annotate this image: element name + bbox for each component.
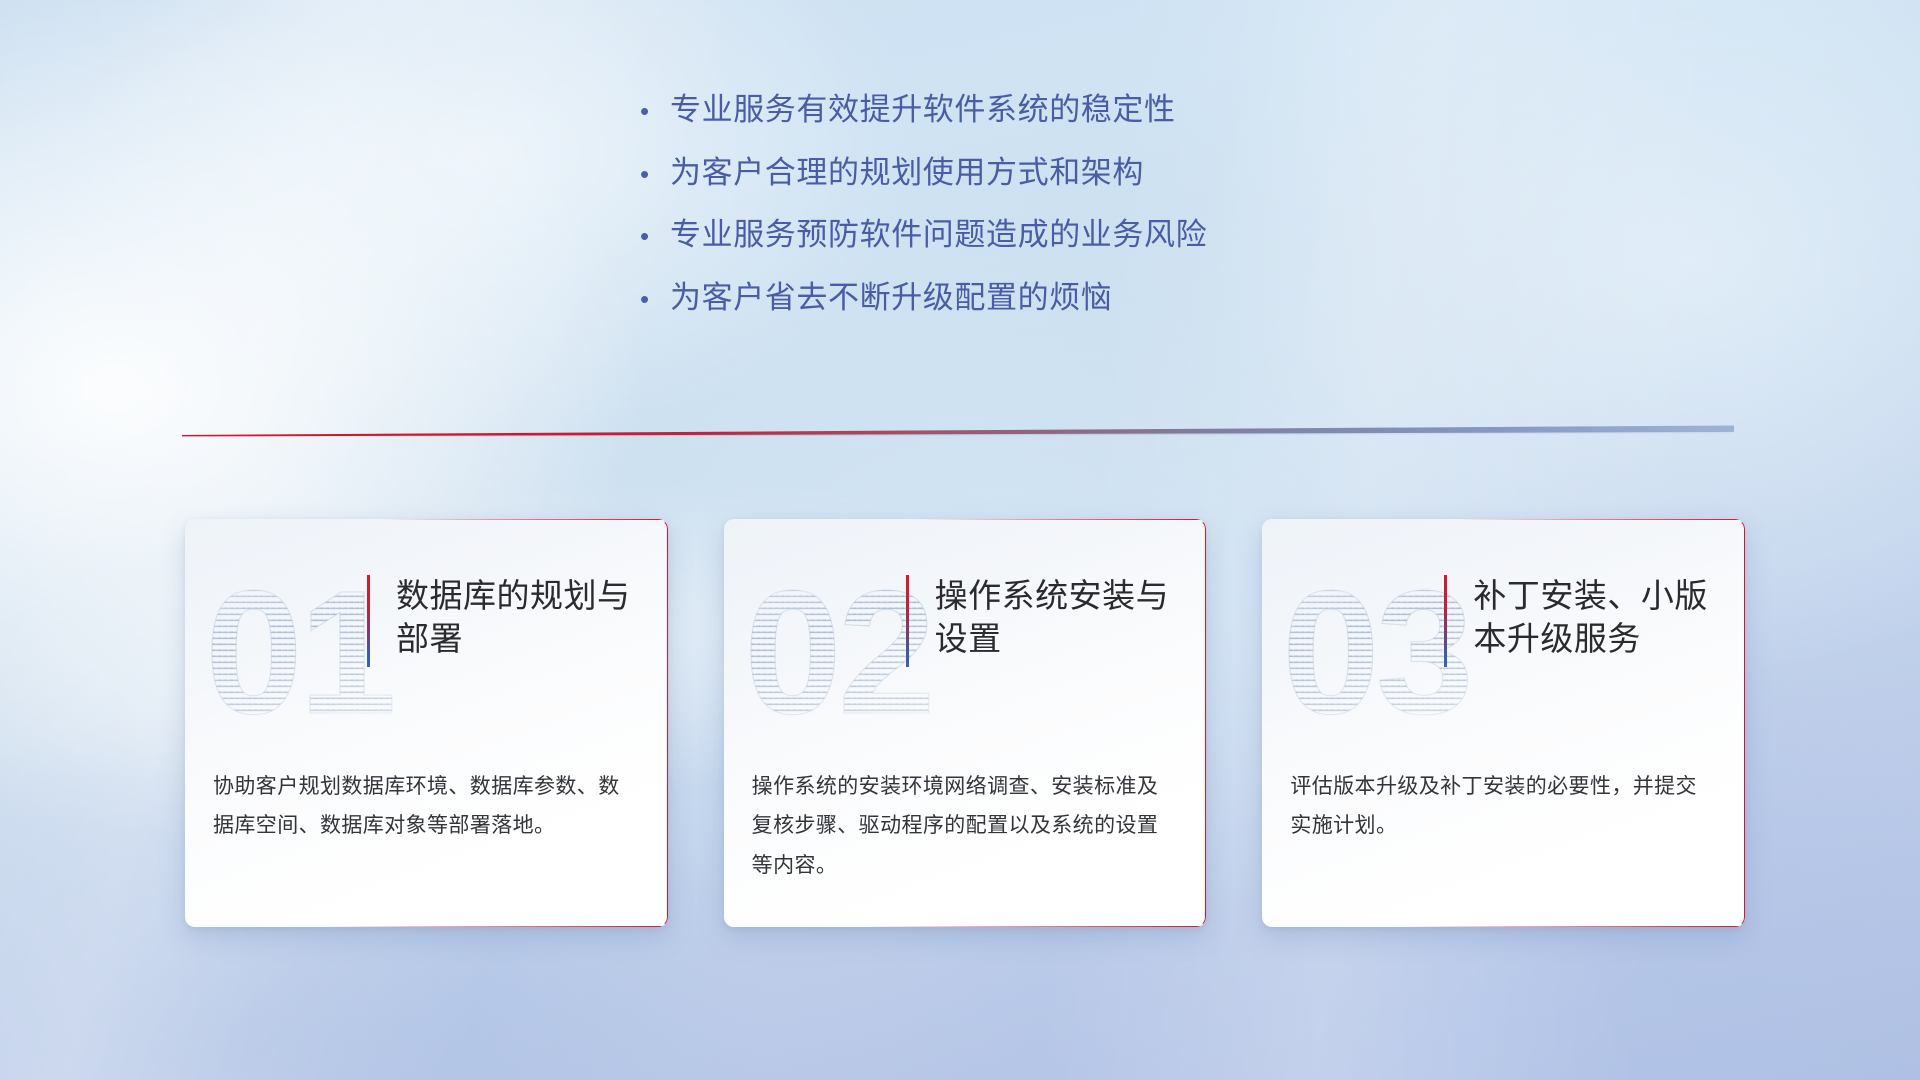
service-card-row: 01 数据库的规划与部署 协助客户规划数据库环境、数据库参数、数据库空间、数据库… xyxy=(185,519,1745,929)
bullet-dot-icon: • xyxy=(640,286,670,312)
card-title: 补丁安装、小版本升级服务 xyxy=(1473,575,1723,661)
service-card[interactable]: 02 操作系统安装与设置 操作系统的安装环境网络调查、安装标准及复核步骤、驱动程… xyxy=(724,519,1207,927)
section-divider xyxy=(182,424,1734,446)
card-title-rule xyxy=(1444,575,1447,667)
bullet-text: 专业服务有效提升软件系统的稳定性 xyxy=(670,92,1176,129)
bullet-dot-icon: • xyxy=(640,223,670,249)
benefits-bullet-list: • 专业服务有效提升软件系统的稳定性 • 为客户合理的规划使用方式和架构 • 专… xyxy=(640,92,1460,342)
card-header: 补丁安装、小版本升级服务 xyxy=(1444,575,1723,667)
slide-canvas: • 专业服务有效提升软件系统的稳定性 • 为客户合理的规划使用方式和架构 • 专… xyxy=(0,0,1920,1080)
card-body-text: 协助客户规划数据库环境、数据库参数、数据库空间、数据库对象等部署落地。 xyxy=(213,767,640,846)
bullet-dot-icon: • xyxy=(640,98,670,124)
card-title-rule xyxy=(906,575,909,667)
card-header: 数据库的规划与部署 xyxy=(367,575,646,667)
svg-text:03: 03 xyxy=(1282,555,1470,743)
service-card[interactable]: 03 补丁安装、小版本升级服务 评估版本升级及补丁安装的必要性，并提交实施计划。 xyxy=(1262,519,1745,927)
list-item: • 专业服务预防软件问题造成的业务风险 xyxy=(640,217,1460,254)
bullet-dot-icon: • xyxy=(640,161,670,187)
list-item: • 为客户省去不断升级配置的烦恼 xyxy=(640,280,1460,317)
list-item: • 专业服务有效提升软件系统的稳定性 xyxy=(640,92,1460,129)
card-title-rule xyxy=(367,575,370,667)
card-body-text: 操作系统的安装环境网络调查、安装标准及复核步骤、驱动程序的配置以及系统的设置等内… xyxy=(752,767,1179,885)
card-title: 数据库的规划与部署 xyxy=(396,575,646,661)
svg-text:02: 02 xyxy=(744,555,932,743)
svg-text:01: 01 xyxy=(205,555,393,743)
bullet-text: 为客户省去不断升级配置的烦恼 xyxy=(670,280,1112,317)
card-body-text: 评估版本升级及补丁安装的必要性，并提交实施计划。 xyxy=(1290,767,1717,846)
list-item: • 为客户合理的规划使用方式和架构 xyxy=(640,155,1460,192)
bullet-text: 专业服务预防软件问题造成的业务风险 xyxy=(670,217,1207,254)
card-title: 操作系统安装与设置 xyxy=(935,575,1185,661)
service-card[interactable]: 01 数据库的规划与部署 协助客户规划数据库环境、数据库参数、数据库空间、数据库… xyxy=(185,519,668,927)
bullet-text: 为客户合理的规划使用方式和架构 xyxy=(670,155,1144,192)
card-header: 操作系统安装与设置 xyxy=(906,575,1185,667)
